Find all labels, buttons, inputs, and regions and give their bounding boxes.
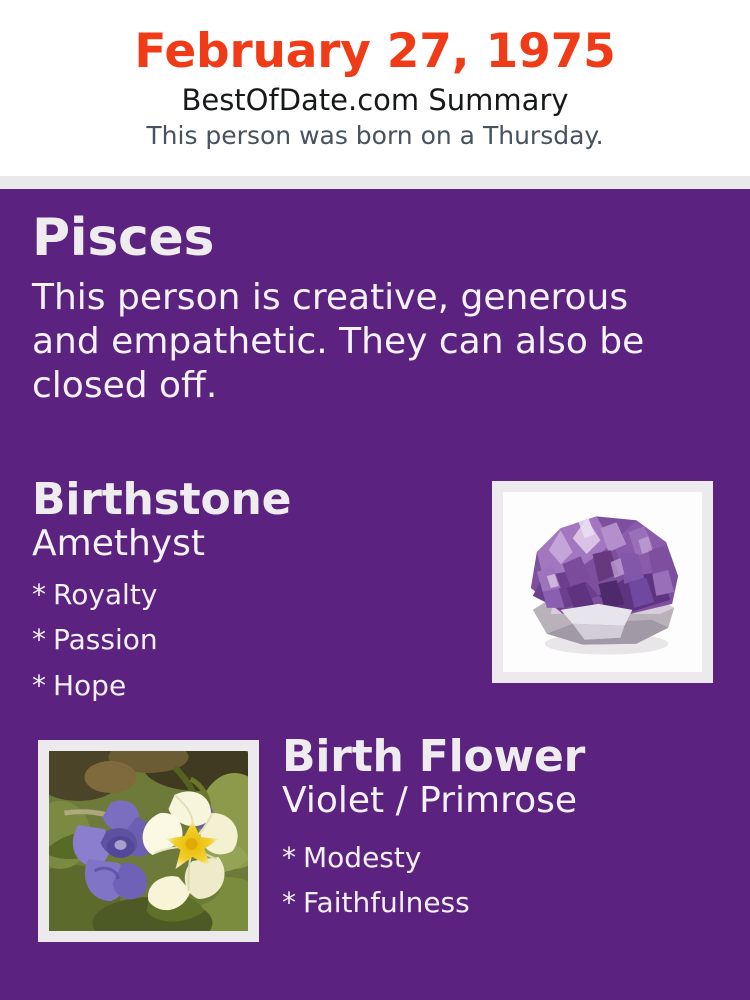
bullet-star-icon: * — [32, 572, 53, 617]
trait-label: Modesty — [303, 841, 421, 874]
list-item: *Hope — [32, 663, 462, 708]
amethyst-illustration — [503, 492, 702, 672]
birthstone-heading: Birthstone — [32, 477, 462, 523]
zodiac-sign-name: Pisces — [32, 211, 718, 266]
birth-flower-photo-frame — [38, 740, 259, 942]
birthstone-photo-frame — [492, 481, 713, 683]
amethyst-crystal-cluster-photo — [503, 492, 702, 672]
violet-and-primrose-flower-photo — [49, 751, 248, 931]
trait-label: Faithfulness — [303, 886, 470, 919]
birthstone-trait-list: *Royalty *Passion *Hope — [32, 564, 462, 708]
list-item: *Modesty — [282, 835, 722, 880]
list-item: *Faithfulness — [282, 880, 722, 925]
bullet-star-icon: * — [32, 617, 53, 662]
list-item: *Passion — [32, 617, 462, 662]
bullet-star-icon: * — [32, 663, 53, 708]
header-divider — [0, 176, 750, 189]
flower-illustration — [49, 751, 248, 931]
list-item: *Royalty — [32, 572, 462, 617]
zodiac-description: This person is creative, generous and em… — [32, 266, 704, 408]
birth-flower-heading: Birth Flower — [282, 734, 722, 780]
birthstone-name: Amethyst — [32, 523, 462, 564]
zodiac-section: Pisces This person is creative, generous… — [32, 211, 718, 408]
bullet-star-icon: * — [282, 835, 303, 880]
birthstone-section: Birthstone Amethyst *Royalty *Passion *H… — [32, 477, 462, 708]
birth-flower-section: Birth Flower Violet / Primrose *Modesty … — [282, 734, 722, 926]
trait-label: Passion — [53, 623, 158, 656]
header: February 27, 1975 BestOfDate.com Summary… — [0, 0, 750, 176]
birth-flower-name: Violet / Primrose — [282, 780, 722, 821]
summary-card: February 27, 1975 BestOfDate.com Summary… — [0, 0, 750, 1000]
bullet-star-icon: * — [282, 880, 303, 925]
site-name-subtitle: BestOfDate.com Summary — [0, 79, 750, 117]
details-panel: Pisces This person is creative, generous… — [0, 189, 750, 1000]
birth-weekday-note: This person was born on a Thursday. — [0, 117, 750, 151]
trait-label: Royalty — [53, 578, 157, 611]
page-title-date: February 27, 1975 — [0, 0, 750, 79]
birth-flower-trait-list: *Modesty *Faithfulness — [282, 821, 722, 926]
trait-label: Hope — [53, 669, 126, 702]
